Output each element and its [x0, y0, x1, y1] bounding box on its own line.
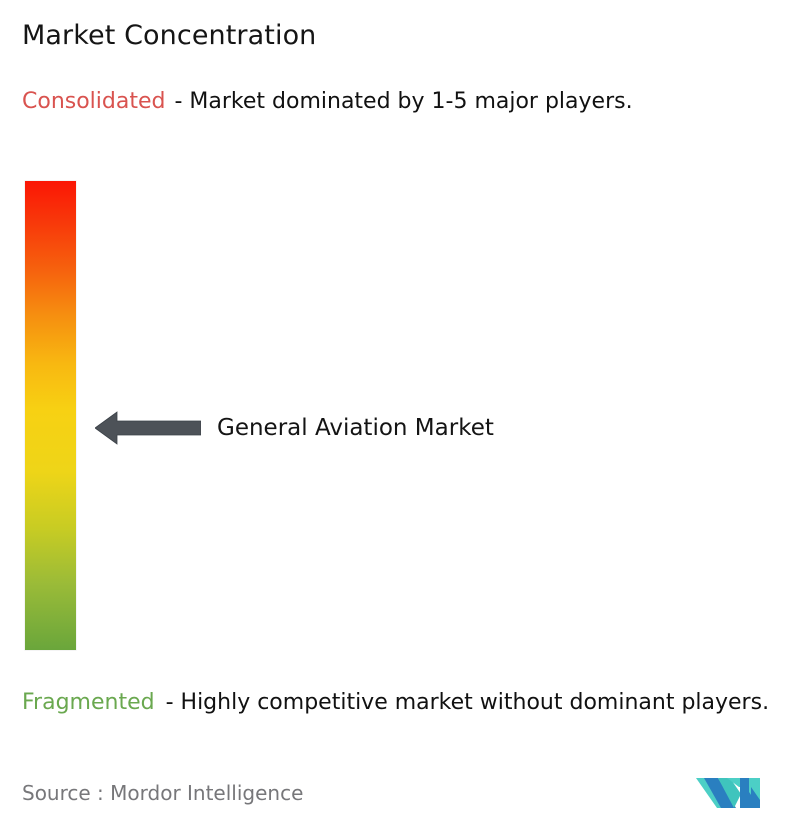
left-arrow-icon	[95, 410, 201, 446]
legend-fragmented: Fragmented- Highly competitive market wi…	[22, 687, 782, 719]
legend-consolidated-description: - Market dominated by 1-5 major players.	[174, 89, 632, 114]
legend-consolidated-term: Consolidated	[22, 89, 165, 114]
legend-fragmented-term: Fragmented	[22, 690, 155, 715]
source-attribution: Source : Mordor Intelligence	[22, 779, 303, 807]
market-concentration-gradient-bar	[25, 181, 76, 650]
market-concentration-figure: Market Concentration Consolidated- Marke…	[0, 0, 796, 834]
legend-fragmented-description: - Highly competitive market without domi…	[166, 690, 769, 715]
mordor-intelligence-logo	[694, 770, 770, 814]
market-position-label: General Aviation Market	[217, 411, 494, 445]
page-title: Market Concentration	[22, 19, 316, 53]
legend-consolidated: Consolidated- Market dominated by 1-5 ma…	[22, 86, 778, 118]
mi-monogram-icon	[694, 770, 770, 814]
market-position-pointer: General Aviation Market	[95, 410, 735, 446]
